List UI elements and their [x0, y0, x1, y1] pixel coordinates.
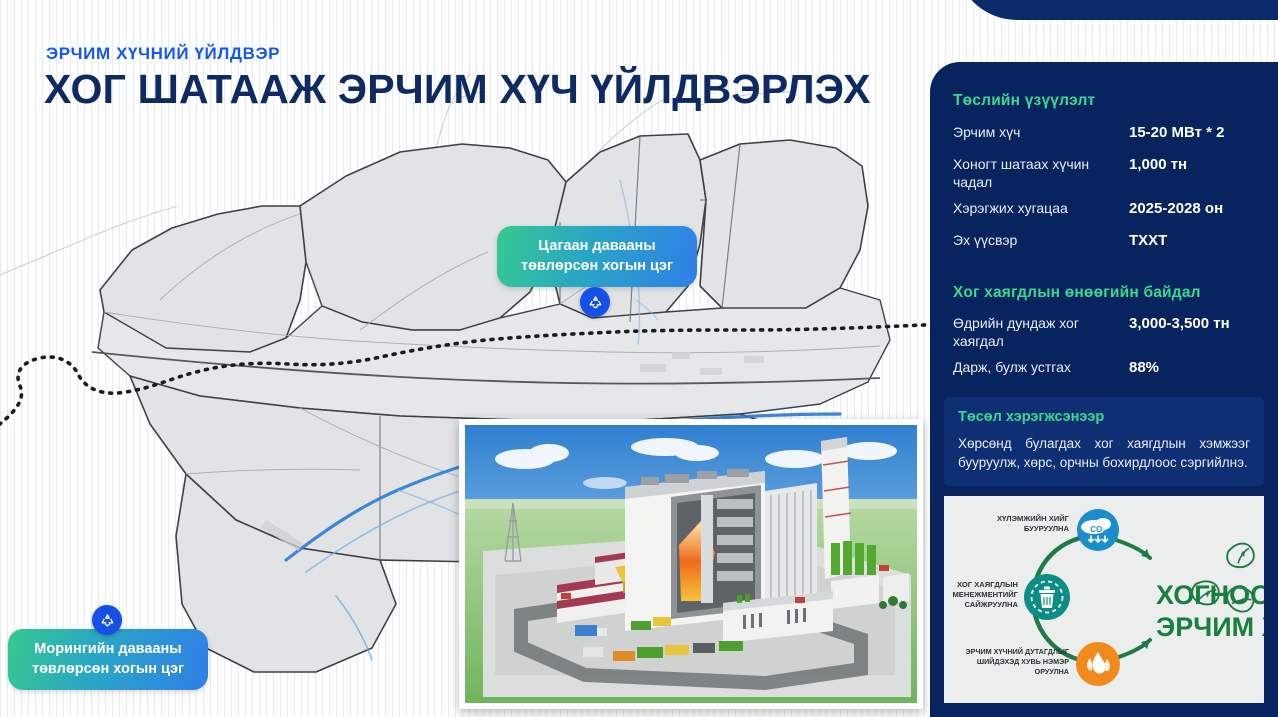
row-value: 3,000-3,500 тн [1129, 315, 1230, 332]
section-title-waste: Хог хаягдлын өнөөгийн байдал [953, 284, 1201, 302]
infographic-label-2-line2: МЕНЕЖМЕНТИЙГ [952, 590, 1018, 599]
row-key: Дарж, булж устгах [953, 359, 1103, 377]
row-value: 2025-2028 он [1129, 200, 1223, 217]
plant-rendering-photo [459, 419, 923, 709]
map-label-moringiin-davaa[interactable]: Морингийн давааны төвлөрсөн хогын цэг [8, 629, 208, 690]
infographic-headline-line2: ЭРЧИМ ХҮЧ [1156, 612, 1264, 642]
row-value: 1,000 тн [1129, 156, 1187, 173]
infographic-label-3-line2: ШИЙДЭХЭД ХУВЬ НЭМЭР [977, 657, 1069, 666]
project-detail-panel: Төслийн үзүүлэлт Эрчим хүч 15-20 МВт * 2… [930, 62, 1278, 717]
panel-top-swoosh [955, 0, 1278, 20]
infographic-label-1-line1: ХҮЛЭМЖИЙН ХИЙГ [997, 514, 1070, 523]
svg-text:CO₂: CO₂ [1090, 525, 1106, 534]
recycle-icon[interactable] [580, 287, 610, 317]
row-value: ТХХТ [1129, 232, 1167, 249]
row-key: Хэрэгжих хугацаа [953, 200, 1103, 218]
row-key: Өдрийн дундаж хог хаягдал [953, 315, 1103, 350]
page-title: ХОГ ШАТААЖ ЭРЧИМ ХҮЧ ҮЙЛДВЭРЛЭХ [44, 66, 871, 113]
outcome-text: Хөрсөнд булагдах хог хаягдлын хэмжээг бу… [958, 434, 1250, 472]
row-value: 88% [1129, 359, 1159, 376]
slide-eyebrow: ЭРЧИМ ХҮЧНИЙ ҮЙЛДВЭР [46, 44, 280, 64]
infographic-label-1-line2: БУУРУУЛНА [1024, 524, 1070, 533]
infographic-headline-line1: ХОГНООС [1156, 580, 1264, 610]
row-key: Эрчим хүч [953, 124, 1103, 142]
outcome-box: Төсөл хэрэгжсэнээр Хөрсөнд булагдах хог … [944, 397, 1264, 486]
infographic-label-2-line1: ХОГ ХАЯГДЛЫН [957, 580, 1018, 589]
infographic-label-3-line1: ЭРЧИМ ХҮЧНИЙ ДУТАГДЛЫГ [966, 647, 1069, 656]
row-value: 15-20 МВт * 2 [1129, 124, 1225, 141]
infographic-label-3-line3: ОРУУЛНА [1035, 667, 1069, 676]
map-district [700, 140, 868, 314]
slide-root: ЭРЧИМ ХҮЧНИЙ ҮЙЛДВЭР ХОГ ШАТААЖ ЭРЧИМ ХҮ… [0, 0, 1278, 717]
row-key: Хоногт шатаах хүчин чадал [953, 156, 1103, 191]
section-title-project: Төслийн үзүүлэлт [953, 92, 1095, 110]
waste-to-energy-infographic: CO₂ [944, 496, 1264, 703]
map-label-tsagaan-davaa[interactable]: Цагаан давааны төвлөрсөн хогын цэг [497, 226, 697, 287]
recycle-icon[interactable] [92, 605, 122, 635]
row-key: Эх үүсвэр [953, 232, 1103, 250]
outcome-title: Төсөл хэрэгжсэнээр [958, 409, 1250, 425]
infographic-label-2-line3: САЙЖРУУЛНА [964, 600, 1018, 609]
